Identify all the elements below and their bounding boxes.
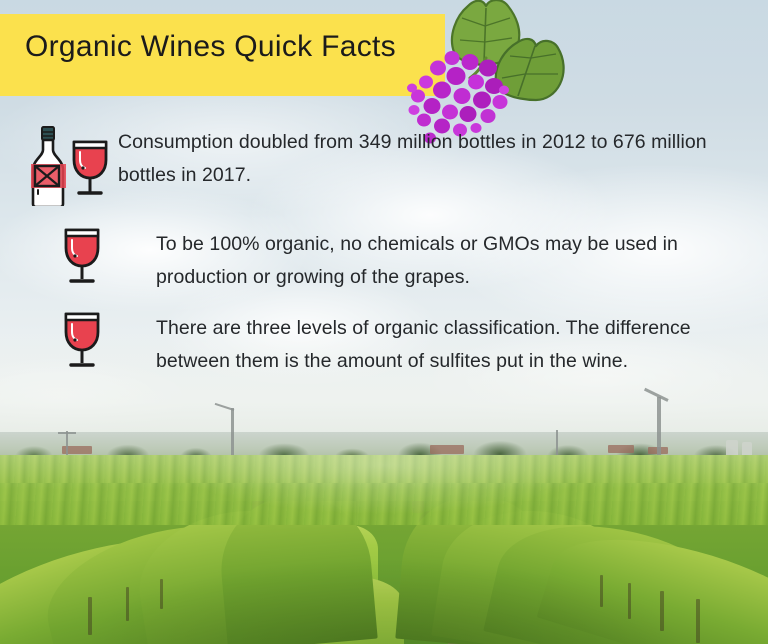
vine-trunk — [628, 583, 631, 619]
fact-row: There are three levels of organic classi… — [26, 312, 742, 378]
fact-row: To be 100% organic, no chemicals or GMOs… — [26, 228, 742, 294]
wind-machine-pole — [657, 397, 661, 459]
grain-silo — [742, 442, 752, 455]
vine-trunk — [696, 599, 700, 643]
wine-glass-icon — [26, 228, 156, 286]
farm-building — [608, 445, 634, 453]
vine-trunk — [600, 575, 603, 607]
farm-building — [430, 445, 464, 454]
vine-trunk — [660, 591, 664, 631]
fact-text: There are three levels of organic classi… — [156, 312, 742, 378]
wine-glass-icon — [26, 312, 156, 370]
utility-pole — [66, 431, 68, 456]
vineyard-far-canopy-2 — [0, 483, 768, 525]
utility-pole — [231, 408, 234, 456]
fact-text: Consumption doubled from 349 million bot… — [118, 126, 742, 192]
wine-bottle-and-glass-icon — [26, 126, 118, 206]
vineyard-field — [0, 455, 768, 644]
vine-trunk — [88, 597, 92, 635]
utility-pole-arm — [58, 432, 76, 434]
grain-silo — [726, 440, 738, 455]
vine-trunk — [160, 579, 163, 609]
vine-trunk — [126, 587, 129, 621]
fact-text: To be 100% organic, no chemicals or GMOs… — [156, 228, 742, 294]
wine-glass-icon — [74, 142, 106, 193]
page-title: Organic Wines Quick Facts — [25, 30, 396, 64]
utility-pole — [556, 430, 558, 456]
infographic-canvas: Organic Wines Quick Facts — [0, 0, 768, 644]
fact-row: Consumption doubled from 349 million bot… — [26, 126, 742, 206]
wine-bottle-icon — [31, 127, 66, 206]
